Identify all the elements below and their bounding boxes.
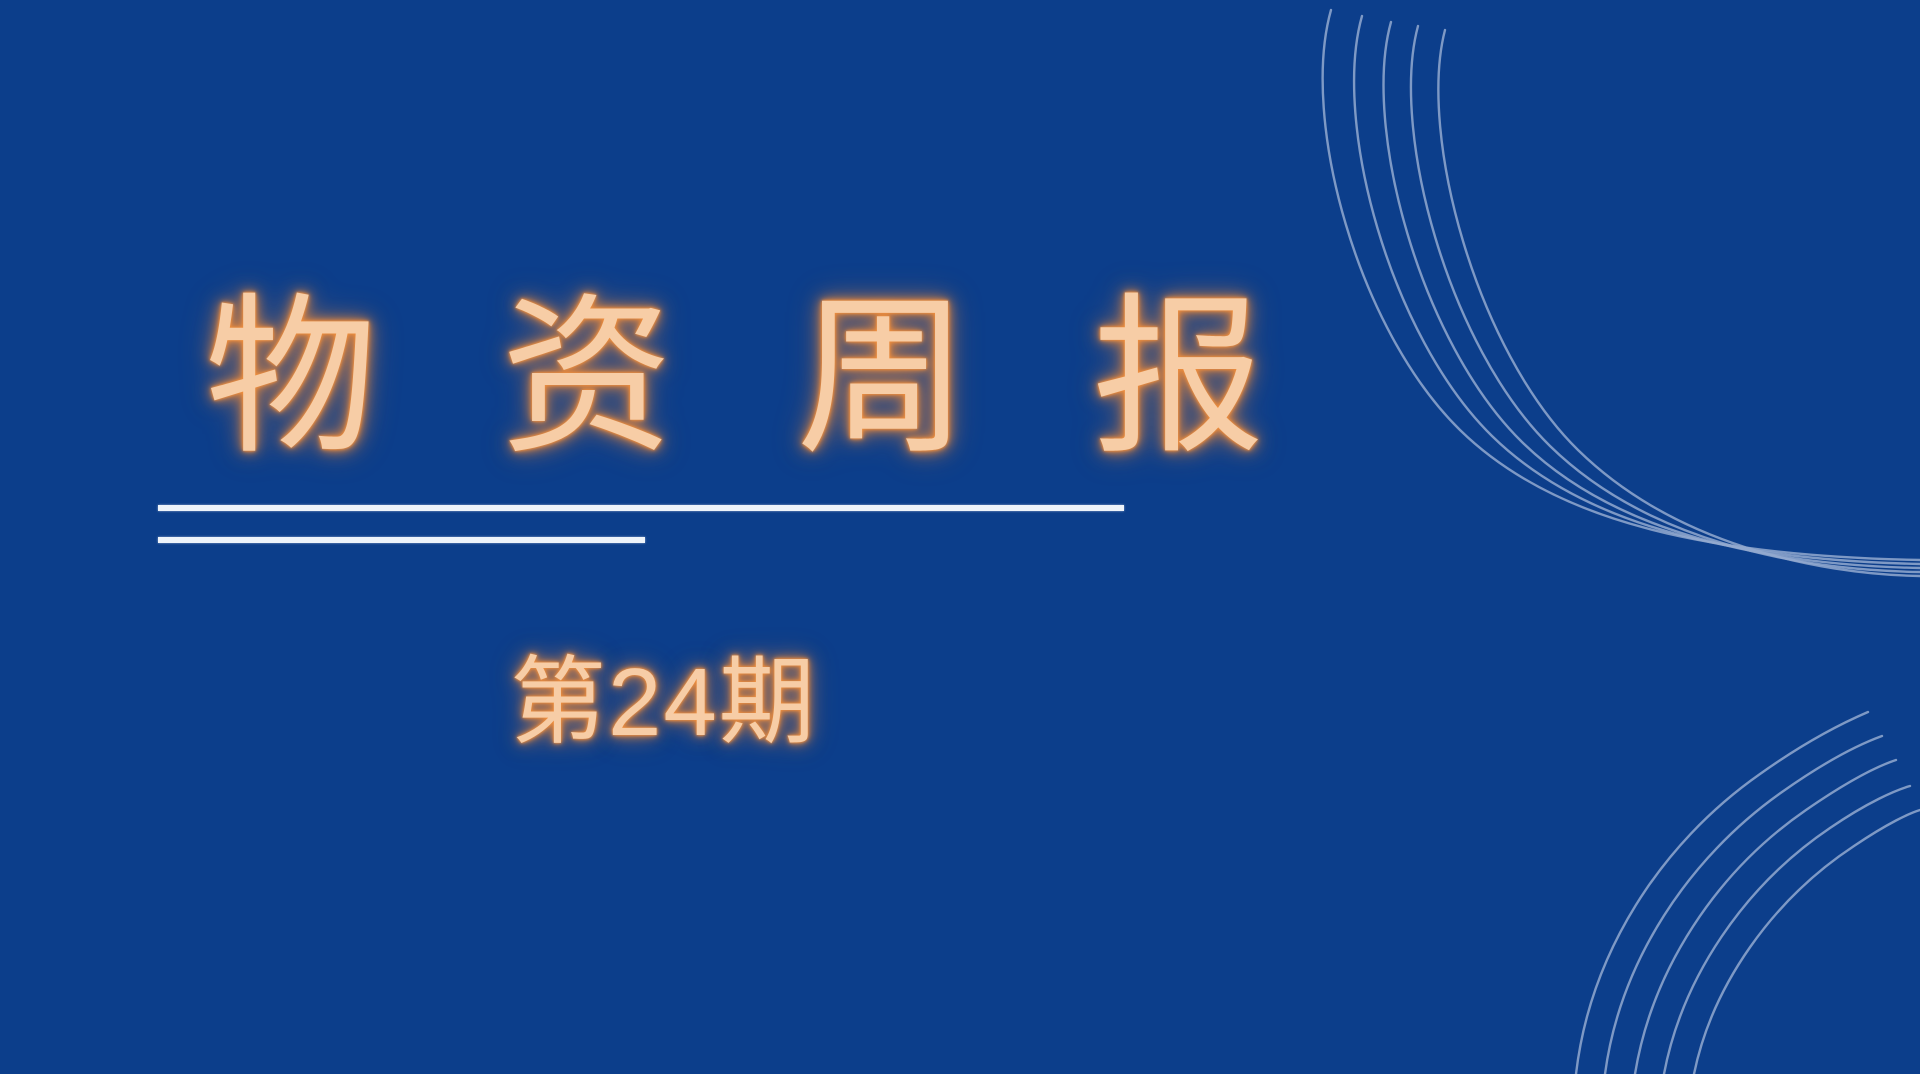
deco-curve-bottom-5 bbox=[1694, 810, 1920, 1074]
issue-number-label: 第24期 bbox=[510, 655, 817, 751]
deco-curve-top-2 bbox=[1354, 16, 1920, 564]
deco-curve-top-5 bbox=[1438, 30, 1920, 576]
deco-curve-top-4 bbox=[1411, 26, 1920, 572]
title-slide: 物 资 周 报 第24期 bbox=[0, 0, 1920, 1074]
deco-curve-top-3 bbox=[1384, 22, 1920, 568]
deco-curve-bottom-1 bbox=[1576, 712, 1868, 1074]
curved-lines-bottom-right-decoration bbox=[1260, 614, 1920, 1074]
deco-curve-bottom-3 bbox=[1635, 760, 1896, 1074]
deco-curve-top-1 bbox=[1323, 10, 1920, 560]
curved-lines-top-right-decoration bbox=[1280, 0, 1920, 620]
deco-curve-bottom-4 bbox=[1664, 786, 1910, 1074]
deco-curve-bottom-2 bbox=[1605, 736, 1882, 1074]
title-underline-short bbox=[158, 537, 645, 543]
page-title: 物 资 周 报 bbox=[205, 292, 1302, 464]
title-underline-long bbox=[158, 505, 1124, 511]
